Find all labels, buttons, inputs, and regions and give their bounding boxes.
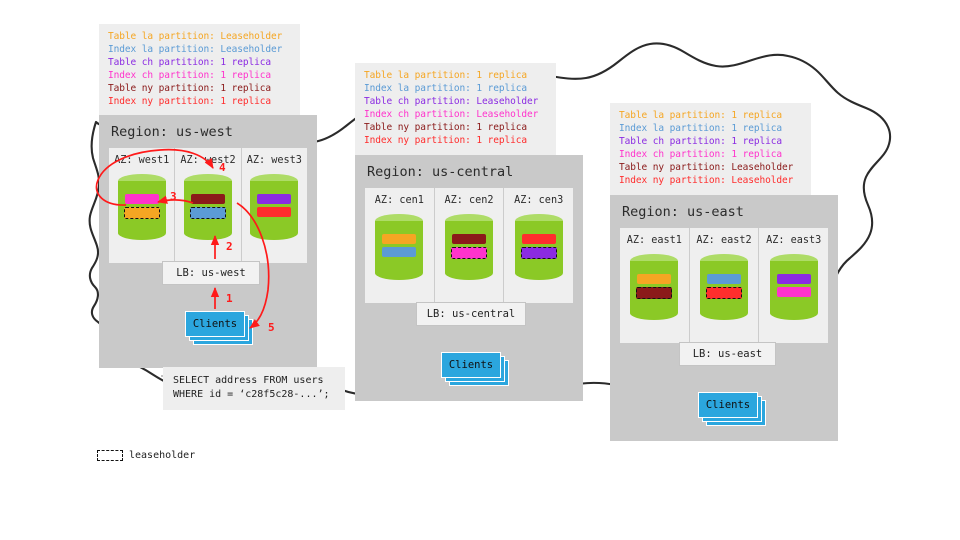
step-number-4: 4 bbox=[219, 161, 226, 174]
node-cylinder[interactable] bbox=[700, 254, 748, 320]
az-label: AZ: cen2 bbox=[435, 195, 504, 206]
step-number-3: 3 bbox=[170, 190, 177, 203]
node-cylinder[interactable] bbox=[515, 214, 563, 280]
us-west-partition-info: Table la partition: LeaseholderIndex la … bbox=[99, 24, 300, 116]
partition-info-line: Index ny partition: 1 replica bbox=[364, 134, 547, 147]
step-number-1: 1 bbox=[226, 292, 233, 305]
az-label: AZ: east3 bbox=[759, 235, 828, 246]
replica-band bbox=[125, 194, 159, 204]
diagram-canvas: Table la partition: LeaseholderIndex la … bbox=[0, 0, 960, 540]
az-group-us-central: AZ: cen1 AZ: cen2 bbox=[365, 188, 573, 303]
partition-info-line: Index ny partition: 1 replica bbox=[108, 95, 291, 108]
node-cylinder[interactable] bbox=[250, 174, 298, 240]
az-east2[interactable]: AZ: east2 bbox=[690, 228, 760, 343]
us-east-partition-info: Table la partition: 1 replicaIndex la pa… bbox=[610, 103, 811, 195]
clients-us-central[interactable]: Clients bbox=[441, 352, 501, 378]
replica-band bbox=[451, 247, 487, 259]
az-group-us-east: AZ: east1 AZ: east2 bbox=[620, 228, 828, 343]
az-group-us-west: AZ: west1 AZ: west2 bbox=[109, 148, 307, 263]
node-cylinder[interactable] bbox=[118, 174, 166, 240]
leaseholder-swatch-icon bbox=[97, 450, 123, 461]
node-cylinder[interactable] bbox=[184, 174, 232, 240]
az-west1[interactable]: AZ: west1 bbox=[109, 148, 175, 263]
az-label: AZ: east2 bbox=[690, 235, 759, 246]
az-east1[interactable]: AZ: east1 bbox=[620, 228, 690, 343]
replica-band bbox=[636, 287, 672, 299]
replica-band bbox=[191, 194, 225, 204]
az-west3[interactable]: AZ: west3 bbox=[242, 148, 307, 263]
replica-band bbox=[706, 287, 742, 299]
az-label: AZ: east1 bbox=[620, 235, 689, 246]
replica-band bbox=[637, 274, 671, 284]
sql-line-1: SELECT address FROM users bbox=[173, 374, 335, 388]
node-cylinder[interactable] bbox=[445, 214, 493, 280]
clients-us-west[interactable]: Clients bbox=[185, 311, 245, 337]
az-label: AZ: cen1 bbox=[365, 195, 434, 206]
leaseholder-key: leaseholder bbox=[97, 450, 195, 461]
load-balancer-us-central[interactable]: LB: us-central bbox=[416, 302, 526, 326]
replica-band bbox=[124, 207, 160, 219]
partition-info-line: Table ch partition: 1 replica bbox=[619, 135, 802, 148]
clients-label: Clients bbox=[185, 311, 245, 337]
replica-band bbox=[190, 207, 226, 219]
partition-info-line: Index la partition: 1 replica bbox=[364, 82, 547, 95]
node-cylinder[interactable] bbox=[375, 214, 423, 280]
leaseholder-key-label: leaseholder bbox=[129, 450, 195, 461]
node-cylinder[interactable] bbox=[630, 254, 678, 320]
clients-label: Clients bbox=[441, 352, 501, 378]
load-balancer-us-east[interactable]: LB: us-east bbox=[679, 342, 776, 366]
partition-info-line: Table ch partition: 1 replica bbox=[108, 56, 291, 69]
az-label: AZ: west2 bbox=[175, 155, 240, 166]
partition-info-line: Table la partition: Leaseholder bbox=[108, 30, 291, 43]
partition-info-line: Table ny partition: Leaseholder bbox=[619, 161, 802, 174]
replica-band bbox=[777, 274, 811, 284]
sql-line-2: WHERE id = ‘c28f5c28-...’; bbox=[173, 388, 335, 402]
region-title-us-central: Region: us-central bbox=[367, 164, 513, 180]
partition-info-line: Table la partition: 1 replica bbox=[364, 69, 547, 82]
replica-band bbox=[382, 247, 416, 257]
partition-info-line: Table ny partition: 1 replica bbox=[108, 82, 291, 95]
replica-band bbox=[452, 234, 486, 244]
partition-info-line: Index la partition: Leaseholder bbox=[108, 43, 291, 56]
az-label: AZ: west1 bbox=[109, 155, 174, 166]
partition-info-line: Index ch partition: 1 replica bbox=[108, 69, 291, 82]
partition-info-line: Table la partition: 1 replica bbox=[619, 109, 802, 122]
partition-info-line: Index ny partition: Leaseholder bbox=[619, 174, 802, 187]
az-label: AZ: west3 bbox=[242, 155, 307, 166]
replica-band bbox=[257, 207, 291, 217]
load-balancer-us-west[interactable]: LB: us-west bbox=[162, 261, 260, 285]
partition-info-line: Table ny partition: 1 replica bbox=[364, 121, 547, 134]
replica-band bbox=[521, 247, 557, 259]
az-label: AZ: cen3 bbox=[504, 195, 573, 206]
region-title-us-west: Region: us-west bbox=[111, 124, 233, 140]
us-central-partition-info: Table la partition: 1 replicaIndex la pa… bbox=[355, 63, 556, 155]
az-cen3[interactable]: AZ: cen3 bbox=[504, 188, 573, 303]
step-number-2: 2 bbox=[226, 240, 233, 253]
sql-query-box: SELECT address FROM usersWHERE id = ‘c28… bbox=[163, 367, 345, 410]
partition-info-line: Table ch partition: Leaseholder bbox=[364, 95, 547, 108]
step-number-5: 5 bbox=[268, 321, 275, 334]
replica-band bbox=[522, 234, 556, 244]
partition-info-line: Index ch partition: 1 replica bbox=[619, 148, 802, 161]
replica-band bbox=[257, 194, 291, 204]
partition-info-line: Index ch partition: Leaseholder bbox=[364, 108, 547, 121]
region-title-us-east: Region: us-east bbox=[622, 204, 744, 220]
clients-label: Clients bbox=[698, 392, 758, 418]
node-cylinder[interactable] bbox=[770, 254, 818, 320]
clients-us-east[interactable]: Clients bbox=[698, 392, 758, 418]
replica-band bbox=[382, 234, 416, 244]
az-cen2[interactable]: AZ: cen2 bbox=[435, 188, 505, 303]
az-cen1[interactable]: AZ: cen1 bbox=[365, 188, 435, 303]
partition-info-line: Index la partition: 1 replica bbox=[619, 122, 802, 135]
replica-band bbox=[777, 287, 811, 297]
replica-band bbox=[707, 274, 741, 284]
az-east3[interactable]: AZ: east3 bbox=[759, 228, 828, 343]
